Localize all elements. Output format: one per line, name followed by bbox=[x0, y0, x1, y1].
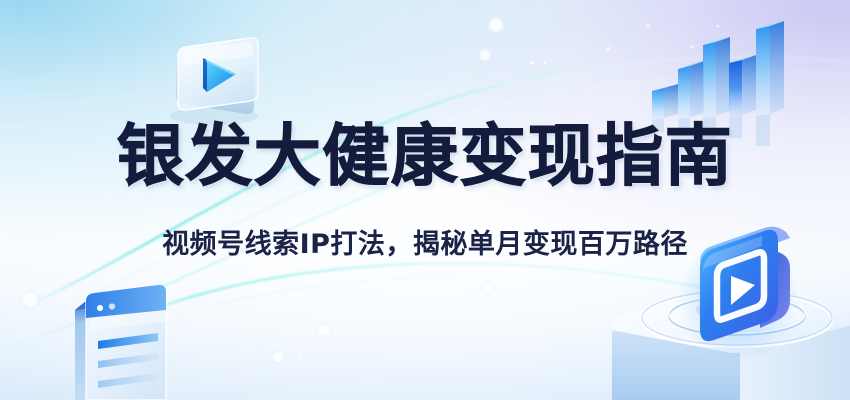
promo-banner: 银发大健康变现指南 视频号线索IP打法，揭秘单月变现百万路径 bbox=[0, 0, 850, 400]
subtitle-container: 视频号线索IP打法，揭秘单月变现百万路径 bbox=[0, 228, 850, 262]
title-container: 银发大健康变现指南 bbox=[0, 118, 850, 194]
podium-icon-decoration bbox=[0, 0, 850, 400]
page-subtitle: 视频号线索IP打法，揭秘单月变现百万路径 bbox=[162, 228, 688, 262]
page-title: 银发大健康变现指南 bbox=[117, 118, 734, 194]
